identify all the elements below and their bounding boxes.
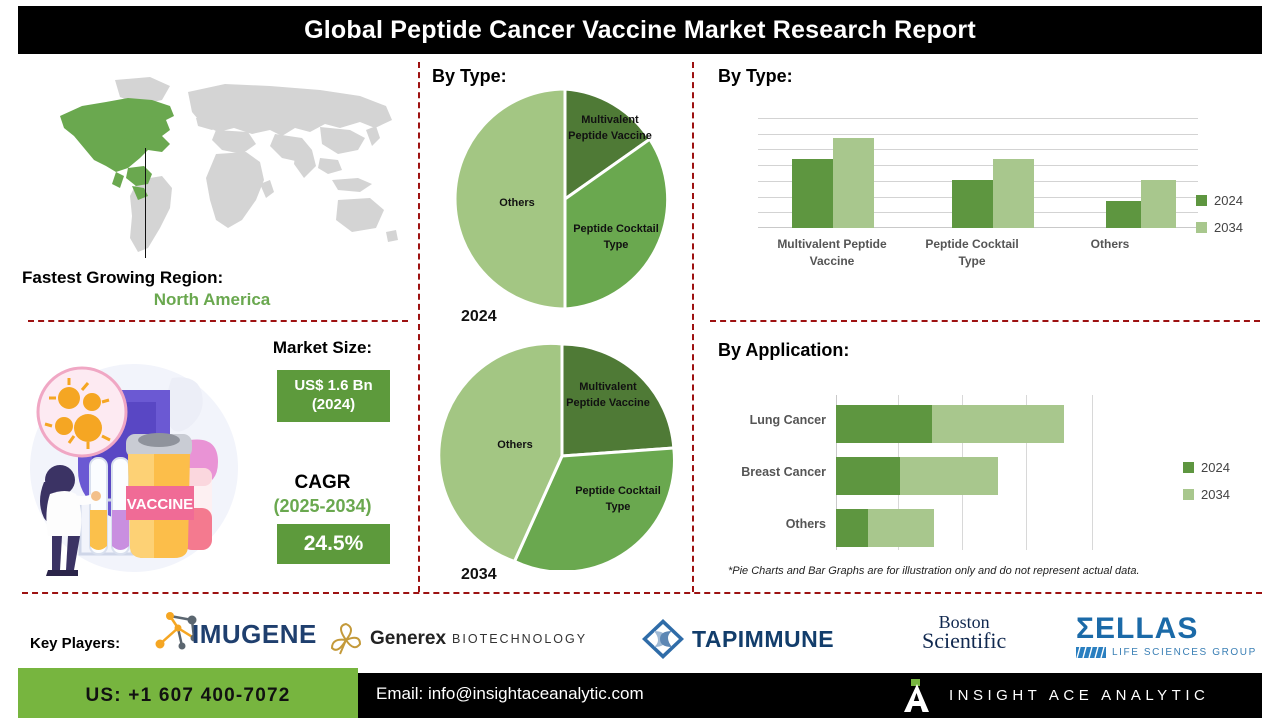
cagr-label: CAGR (230, 472, 415, 494)
logo-imugene: IMUGENE (148, 608, 317, 660)
vaccine-illustration: VACCINE (22, 350, 247, 585)
bar-2024-others (1106, 201, 1141, 228)
insight-ace-logo-icon (903, 679, 933, 712)
bar-chart-legend: 2024 2034 (1196, 193, 1243, 247)
market-size-label: Market Size: (230, 338, 415, 358)
legend-label-2024: 2024 (1201, 460, 1230, 475)
hbar-2024-breast-cancer (836, 457, 900, 495)
bar-category-others: Others (1060, 236, 1160, 253)
hbar-2024-lung-cancer (836, 405, 932, 443)
legend-item-2034: 2034 (1183, 487, 1230, 502)
hbar-2034-breast-cancer (900, 457, 998, 495)
divider-vertical-left (418, 62, 420, 592)
infographic-page: Global Peptide Cancer Vaccine Market Res… (0, 0, 1280, 720)
bar-category-cocktail: Peptide Cocktail Type (912, 236, 1032, 271)
page-title: Global Peptide Cancer Vaccine Market Res… (304, 16, 976, 45)
vaccine-illustration-svg: VACCINE (22, 350, 247, 585)
legend-label-2024: 2024 (1214, 193, 1243, 208)
bar-2034-others (1141, 180, 1176, 228)
pie-chart-2034-svg (440, 342, 680, 570)
svg-text:VACCINE: VACCINE (127, 496, 193, 513)
gridline (758, 118, 1198, 119)
pie-chart-2024 (440, 88, 680, 310)
footer-brand: INSIGHT ACE ANALYTIC (903, 679, 1209, 712)
pie-chart-2034 (440, 342, 680, 570)
bar-2034-cocktail (993, 159, 1034, 228)
divider-horizontal-right (710, 320, 1260, 322)
map-pointer-line (145, 148, 146, 258)
hbar-category-others: Others (716, 517, 826, 531)
hbar-category-breast-cancer: Breast Cancer (716, 465, 826, 479)
fastest-region-label: Fastest Growing Region: (22, 268, 402, 288)
legend-item-2034: 2034 (1196, 220, 1243, 235)
legend-item-2024: 2024 (1196, 193, 1243, 208)
disclaimer-note: *Pie Charts and Bar Graphs are for illus… (728, 565, 1248, 577)
bar-2024-multivalent (792, 159, 833, 228)
legend-swatch-2024 (1183, 462, 1194, 473)
bar-2034-multivalent (833, 138, 874, 228)
divider-vertical-right (692, 62, 694, 592)
pie-2024-year: 2024 (461, 308, 497, 326)
hbar-2034-lung-cancer (932, 405, 1064, 443)
market-size-value-line2: (2024) (294, 396, 372, 415)
bar-category-multivalent: Multivalent Peptide Vaccine (762, 236, 902, 271)
legend-item-2024: 2024 (1183, 460, 1230, 475)
gridline (758, 134, 1198, 135)
tapimmune-wordmark: TAPIMMUNE (692, 626, 834, 653)
footer-black-block: Email: info@insightaceanalytic.com INSIG… (358, 673, 1262, 718)
legend-swatch-2024 (1196, 195, 1207, 206)
pie-chart-2024-svg (440, 88, 680, 310)
imugene-wordmark: IMUGENE (192, 619, 317, 650)
legend-label-2034: 2034 (1201, 487, 1230, 502)
bar-chart-by-type (758, 118, 1198, 228)
pie-2034-year: 2034 (461, 566, 497, 584)
legend-swatch-2034 (1183, 489, 1194, 500)
key-players-label: Key Players: (30, 635, 120, 652)
sellas-subtext: LIFE SCIENCES GROUP (1112, 647, 1257, 658)
logo-generex: Generex BIOTECHNOLOGY (326, 620, 587, 658)
logo-sellas: ΣELLAS LIFE SCIENCES GROUP (1076, 614, 1257, 658)
gridline (758, 149, 1198, 150)
section-title-by-type-bar: By Type: (718, 66, 793, 87)
fastest-region-value: North America (22, 290, 402, 310)
section-title-by-application: By Application: (718, 340, 849, 361)
tapimmune-diamond-icon (640, 617, 686, 661)
market-size-value-box: US$ 1.6 Bn (2024) (277, 370, 390, 422)
header-banner: Global Peptide Cancer Vaccine Market Res… (18, 6, 1262, 54)
legend-swatch-2034 (1196, 222, 1207, 233)
world-map-svg (20, 72, 410, 267)
cagr-value-box: 24.5% (277, 524, 390, 564)
hbar-2024-others (836, 509, 868, 547)
generex-wordmark: Generex (370, 628, 446, 650)
divider-horizontal-bottom (22, 592, 1262, 594)
footer-phone: US: +1 607 400-7072 (85, 685, 290, 707)
generex-leaf-icon (326, 620, 366, 658)
logo-boston-scientific: Boston Scientific (922, 614, 1006, 652)
hbar-category-lung-cancer: Lung Cancer (716, 413, 826, 427)
logo-tapimmune: TAPIMMUNE (640, 617, 834, 661)
footer-email: Email: info@insightaceanalytic.com (376, 684, 644, 704)
legend-label-2034: 2034 (1214, 220, 1243, 235)
hbar-chart-legend: 2024 2034 (1183, 460, 1230, 514)
sellas-wordmark: ΣELLAS (1076, 614, 1198, 644)
cagr-years: (2025-2034) (230, 496, 415, 517)
market-size-value-line1: US$ 1.6 Bn (294, 377, 372, 396)
divider-horizontal-left (28, 320, 408, 322)
section-title-by-type-pie: By Type: (432, 66, 507, 87)
boston-scientific-line2: Scientific (922, 631, 1006, 652)
hbar-chart-by-application (836, 395, 1108, 550)
bar-2024-cocktail (952, 180, 993, 228)
gridline-vertical (1092, 395, 1093, 550)
world-map (20, 72, 410, 267)
hbar-2034-others (868, 509, 934, 547)
insight-ace-a-icon (903, 679, 933, 712)
footer-brand-name: INSIGHT ACE ANALYTIC (949, 687, 1209, 704)
footer-phone-block: US: +1 607 400-7072 (18, 673, 358, 718)
generex-subtext: BIOTECHNOLOGY (452, 632, 587, 646)
sellas-stripes-icon (1076, 647, 1106, 658)
